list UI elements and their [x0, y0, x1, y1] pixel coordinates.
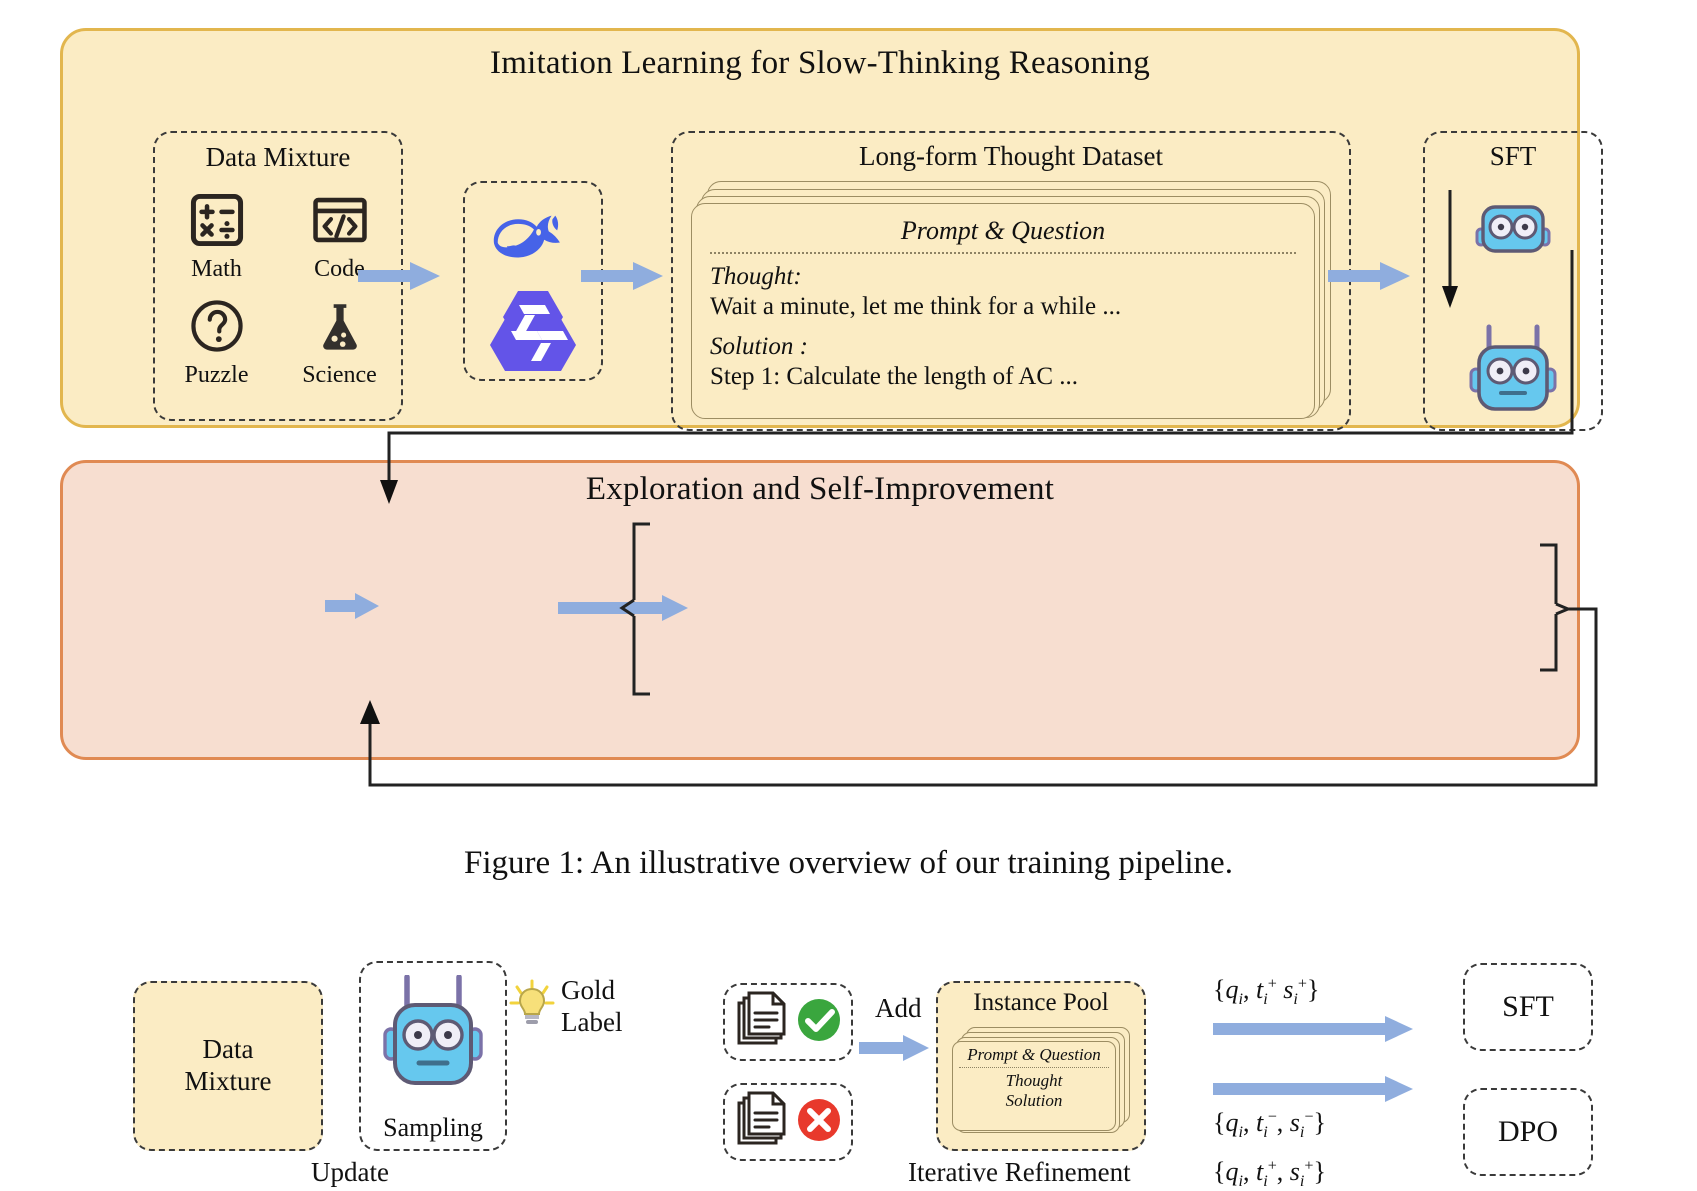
arrow-models-to-dataset	[581, 259, 665, 298]
card-prompt-question-header: Prompt & Question	[710, 216, 1296, 246]
instance-pool-card-stack: Prompt & Question Thought Solution	[952, 1027, 1132, 1137]
sft-label: SFT	[1465, 965, 1591, 1049]
arrow-pool-to-sft	[1213, 1015, 1413, 1048]
data-mixture-label: Math	[191, 256, 242, 283]
flask-icon	[311, 297, 369, 360]
correct-docs-row	[725, 985, 851, 1059]
data-mixture-line1: Data	[203, 1034, 254, 1066]
math-sft-pair: {qi, ti+ si+}	[1213, 975, 1319, 1009]
iterative-refinement-label: Iterative Refinement	[908, 1157, 1131, 1188]
documents-icon	[733, 1089, 791, 1156]
qwen-qwq-logo	[465, 287, 601, 377]
robot-antenna-icon	[1461, 323, 1565, 424]
question-circle-icon	[188, 297, 246, 360]
documents-icon	[733, 989, 791, 1056]
panel-exploration-title: Exploration and Self-Improvement	[63, 471, 1577, 508]
math-dpo-pair: {qi, ti−, si−}	[1213, 1108, 1326, 1142]
pool-card-header: Prompt & Question	[959, 1045, 1109, 1065]
add-label: Add	[875, 993, 922, 1024]
incorrect-docs-row	[725, 1085, 851, 1159]
arrow-dataset-to-sft	[1328, 259, 1412, 298]
dpo-box: DPO	[1463, 1088, 1593, 1176]
pool-card-divider	[959, 1067, 1109, 1068]
card-thought-label: Thought:	[710, 262, 1296, 292]
data-mixture-label: Puzzle	[185, 362, 249, 389]
data-mixture-label: Science	[302, 362, 377, 389]
panel-imitation-learning: Imitation Learning for Slow-Thinking Rea…	[60, 28, 1580, 428]
sampling-label: Sampling	[361, 1113, 505, 1143]
sampling-box: Sampling	[359, 961, 507, 1151]
figure-caption: Figure 1: An illustrative overview of ou…	[0, 845, 1697, 882]
data-mixture-label-stack: Data Mixture	[135, 983, 321, 1149]
arrow-add-to-pool	[859, 1033, 929, 1068]
arrow-data-to-models	[358, 259, 442, 298]
panel-imitation-title: Imitation Learning for Slow-Thinking Rea…	[63, 45, 1577, 82]
green-check-icon	[795, 996, 843, 1049]
data-mixture-item-puzzle: Puzzle	[155, 297, 278, 389]
card-divider	[710, 252, 1296, 254]
robot-antenna-icon	[377, 975, 489, 1106]
dataset-title: Long-form Thought Dataset	[673, 141, 1349, 172]
data-mixture-item-math: Math	[155, 191, 278, 283]
arrow-pool-to-dpo	[1213, 1075, 1413, 1108]
lightbulb-icon	[509, 979, 555, 1037]
red-cross-icon	[795, 1096, 843, 1149]
long-form-thought-dataset-box: Long-form Thought Dataset Prompt & Quest…	[671, 131, 1351, 431]
data-mixture-line2: Mixture	[185, 1066, 272, 1098]
instance-pool-title: Instance Pool	[938, 989, 1144, 1017]
arrow-data-to-sampling	[325, 591, 381, 626]
math-iterative-pair: {qi, ti+, si+}	[1213, 1157, 1326, 1191]
pool-card-line1: Thought	[959, 1071, 1109, 1091]
data-mixture-item-science: Science	[278, 297, 401, 389]
dpo-label: DPO	[1465, 1090, 1591, 1174]
incorrect-docs-box	[723, 1083, 853, 1161]
calculator-icon	[188, 191, 246, 254]
card-solution-label: Solution :	[710, 332, 1296, 362]
data-mixture-title: Data Mixture	[155, 142, 401, 173]
update-label: Update	[311, 1157, 389, 1188]
robot-icon	[1465, 185, 1561, 260]
card-solution-text: Step 1: Calculate the length of AC ...	[710, 362, 1296, 393]
pool-card-line2: Solution	[959, 1091, 1109, 1111]
gold-label-line2: Label	[561, 1007, 622, 1039]
sft-box-top: SFT	[1423, 131, 1603, 431]
gold-label-text: Gold Label	[561, 975, 622, 1039]
panel-exploration-self-improvement: Exploration and Self-Improvement Data Mi…	[60, 460, 1580, 760]
figure-canvas: Imitation Learning for Slow-Thinking Rea…	[0, 0, 1697, 921]
sft-title: SFT	[1425, 141, 1601, 172]
code-window-icon	[311, 191, 369, 254]
dataset-card-stack: Prompt & Question Thought: Wait a minute…	[691, 181, 1331, 419]
sft-box-bottom: SFT	[1463, 963, 1593, 1051]
pool-card-front: Prompt & Question Thought Solution	[952, 1041, 1116, 1131]
instance-pool-box: Instance Pool Prompt & Question Thought …	[936, 981, 1146, 1151]
card-thought-text: Wait a minute, let me think for a while …	[710, 292, 1296, 323]
data-mixture-box-bottom: Data Mixture	[133, 981, 323, 1151]
gold-label-line1: Gold	[561, 975, 622, 1007]
arrow-sampling-to-outcomes	[558, 593, 688, 628]
dataset-card-front: Prompt & Question Thought: Wait a minute…	[691, 203, 1315, 419]
correct-docs-box	[723, 983, 853, 1061]
